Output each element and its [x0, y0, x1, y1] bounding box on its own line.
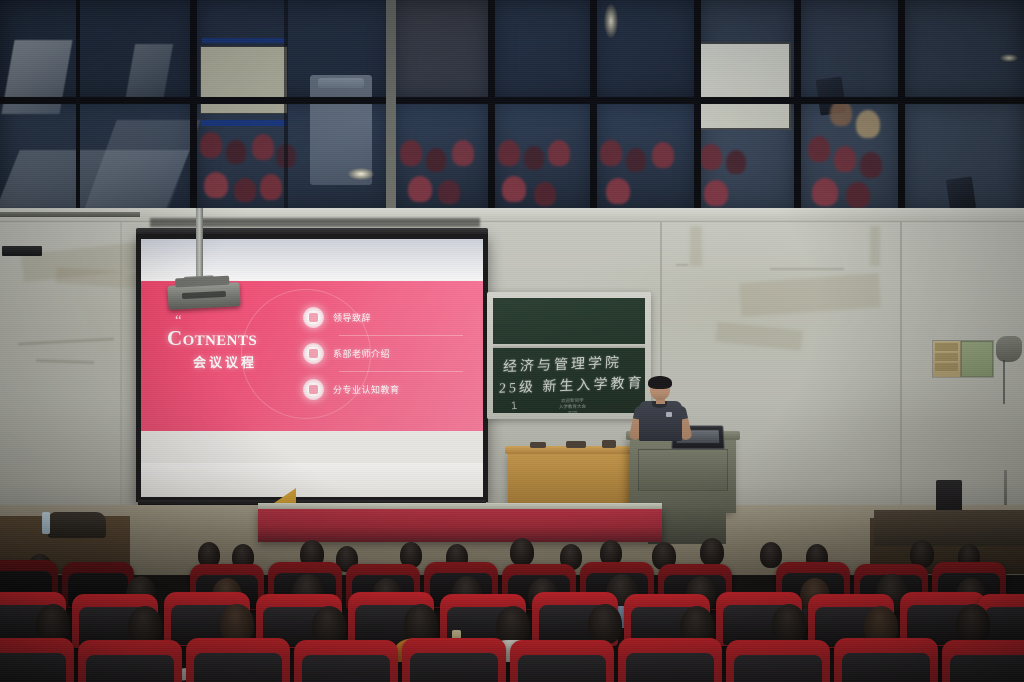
- wall-scuff: [36, 359, 94, 364]
- blackboard-text-line1: 经济与管理学院: [503, 352, 623, 377]
- wall-scuff: [676, 264, 688, 266]
- wall-stain: [56, 267, 147, 289]
- reflected-crowd: [606, 178, 630, 204]
- wall-stain: [870, 226, 880, 266]
- list-item: 分专业认知教育: [303, 371, 465, 407]
- reflected-crowd: [438, 180, 460, 204]
- reflected-crowd: [834, 146, 856, 172]
- reflected-crowd: [226, 140, 246, 164]
- window-mullion-vertical: [488, 0, 495, 215]
- lamp-glare: [348, 168, 374, 180]
- wall-stain: [715, 322, 803, 351]
- reflected-crowd: [700, 144, 722, 170]
- reflected-crowd: [498, 140, 520, 166]
- reflected-crowd: [812, 178, 838, 206]
- electrical-panel: [932, 340, 994, 378]
- reflected-white-screen: [697, 42, 791, 130]
- reflected-crowd: [548, 140, 570, 166]
- projection-screen: “ Cotnents 会议议程 领导致辞 系部老师介绍 分专业: [136, 234, 488, 502]
- auditorium-seat: [510, 640, 614, 682]
- auditorium-seat: [942, 640, 1024, 682]
- reflected-crowd: [846, 182, 870, 208]
- wall-placard: [2, 246, 42, 256]
- audience-head: [510, 538, 534, 566]
- window-mullion-vertical: [284, 0, 288, 215]
- wall-cornice: [0, 208, 1024, 222]
- window-mullion-vertical: [590, 0, 597, 215]
- presenter-shirt-logo: [666, 412, 672, 417]
- agenda-item-label: 系部老师介绍: [333, 347, 390, 360]
- table-object: [530, 442, 546, 448]
- panel-label-plate: [933, 341, 961, 377]
- panel-door[interactable]: [961, 341, 993, 377]
- blackboard-frame: 经济与管理学院 25级 新生入学教育 欢迎新同学 入学教育大会 2025 1: [487, 292, 651, 419]
- glass-pane: [798, 0, 902, 100]
- wall-scuff: [18, 337, 114, 345]
- auditorium-seat: [834, 638, 938, 682]
- audience-head: [760, 542, 782, 568]
- person-icon: [303, 307, 324, 328]
- reflected-crowd: [234, 178, 256, 202]
- list-item: 系部老师介绍: [303, 335, 465, 371]
- blackboard-upper-panel: [493, 298, 645, 344]
- upper-glass-window-wall: [0, 0, 1024, 215]
- auditorium-seat: [0, 638, 74, 682]
- agenda-item-label: 领导致辞: [333, 311, 371, 324]
- reflected-crowd: [652, 142, 674, 168]
- screen-blank-top: [141, 239, 483, 281]
- auditorium-seat: [294, 640, 398, 682]
- reflected-crowd: [260, 174, 282, 200]
- glass-pane: [492, 0, 594, 100]
- auditorium-seat: [78, 640, 182, 682]
- glass-pane: [392, 0, 492, 100]
- auditorium-seat: [186, 638, 290, 682]
- panel-label-strip: [935, 363, 958, 371]
- reflected-crowd: [626, 148, 646, 172]
- reflected-crowd: [426, 148, 446, 172]
- group-icon: [303, 343, 324, 364]
- audience-head: [772, 604, 806, 644]
- reflected-crowd: [452, 140, 474, 166]
- window-mullion-vertical: [386, 0, 396, 215]
- reflected-crowd: [534, 182, 556, 206]
- auditorium-seat: [618, 638, 722, 682]
- audience-head: [956, 604, 990, 644]
- glasses-icon: [651, 387, 669, 391]
- wall-scuff: [770, 268, 844, 270]
- reflected-crowd: [524, 146, 544, 170]
- wall-stain: [739, 273, 881, 317]
- blackboard-mark: 1: [511, 400, 518, 412]
- reflected-wall-speaker: [946, 176, 976, 211]
- wall-seam: [120, 222, 122, 520]
- reflected-crowd: [252, 134, 274, 160]
- reflected-crowd: [200, 132, 222, 158]
- presenter: [633, 378, 689, 442]
- reflected-crowd: [856, 110, 880, 138]
- audience-seating: [0, 520, 1024, 682]
- audience-head: [700, 538, 724, 566]
- window-mullion-vertical: [898, 0, 905, 215]
- reflected-crowd: [400, 140, 422, 166]
- slide-agenda-list: 领导致辞 系部老师介绍 分专业认知教育: [303, 299, 465, 407]
- ceiling-projector-icon: [167, 282, 240, 310]
- reflected-crowd: [502, 176, 526, 202]
- reflected-crowd: [808, 136, 830, 162]
- reflected-crowd: [204, 172, 228, 198]
- window-mullion-vertical: [794, 0, 801, 215]
- auditorium-photo: “ Cotnents 会议议程 领导致辞 系部老师介绍 分专业: [0, 0, 1024, 682]
- blind-top-bar: [202, 38, 286, 43]
- lamp-glare: [1000, 54, 1018, 62]
- wall-seam: [900, 222, 902, 520]
- reflected-ac-unit: [318, 78, 364, 88]
- window-mullion-horizontal: [0, 97, 1024, 104]
- panel-label-strip: [935, 353, 958, 361]
- reflected-crowd: [726, 150, 746, 174]
- table-object: [602, 440, 616, 448]
- agenda-item-label: 分专业认知教育: [333, 383, 400, 396]
- glass-pane: [902, 0, 1024, 100]
- auditorium-seat: [402, 638, 506, 682]
- window-mullion-vertical: [76, 0, 80, 215]
- window-mullion-vertical: [190, 0, 197, 215]
- reflected-crowd: [860, 152, 882, 178]
- wall-cable: [1003, 360, 1005, 404]
- reflected-crowd: [600, 140, 622, 166]
- panel-label-strip: [935, 343, 958, 351]
- reflected-crowd: [408, 176, 432, 202]
- projector-mount-pole: [196, 208, 203, 286]
- list-item: 领导致辞: [303, 299, 465, 335]
- lamp-glare: [604, 4, 618, 38]
- wall-stain: [690, 226, 702, 266]
- blackboard-small-note: 欢迎新同学 入学教育大会 2025: [559, 398, 586, 413]
- auditorium-seat: [726, 640, 830, 682]
- screen-blank-bottom: [141, 463, 483, 497]
- blackboard-text-line2: 25级 新生入学教育: [499, 372, 645, 398]
- window-mullion-vertical: [694, 0, 701, 215]
- wall-speaker-icon: [996, 336, 1022, 362]
- audience-head: [588, 604, 622, 644]
- blackboard-lower-panel: 经济与管理学院 25级 新生入学教育 欢迎新同学 入学教育大会 2025 1: [493, 348, 645, 413]
- blind-bottom-bar: [201, 120, 287, 126]
- blackboard: 经济与管理学院 25级 新生入学教育 欢迎新同学 入学教育大会 2025 1: [493, 298, 645, 413]
- reflected-crowd: [704, 180, 728, 206]
- table-object: [566, 441, 586, 448]
- book-icon: [303, 379, 324, 400]
- ceiling-pipe: [0, 212, 140, 217]
- lectern-front-panel: [638, 449, 728, 491]
